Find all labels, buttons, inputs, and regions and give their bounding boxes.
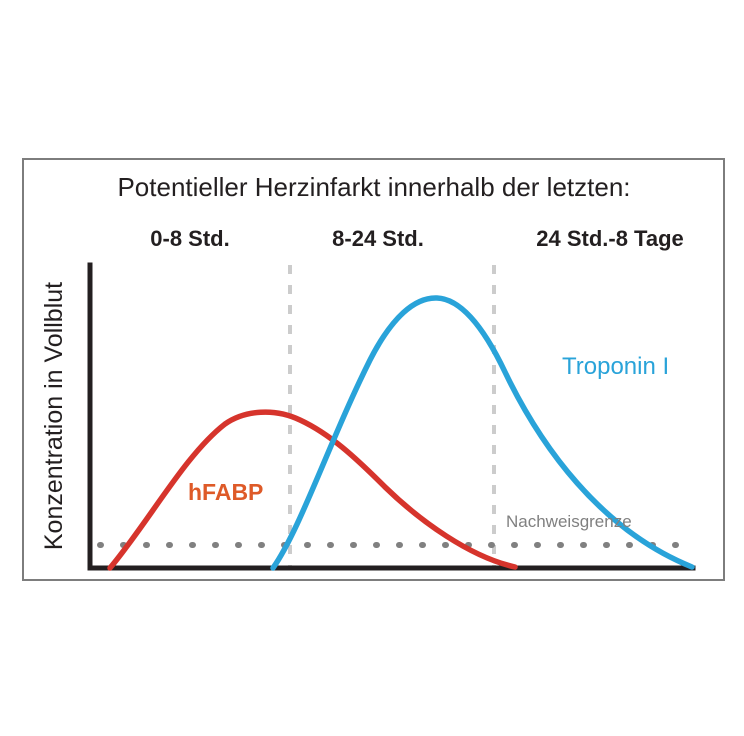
phase-header-0-8: 0-8 Std. bbox=[150, 226, 229, 251]
series-label-troponin: Troponin I bbox=[562, 353, 669, 380]
chart-canvas: Potentieller Herzinfarkt innerhalb der l… bbox=[0, 0, 744, 736]
detection-limit-label: Nachweisgrenze bbox=[506, 512, 632, 531]
phase-header-24-8d: 24 Std.-8 Tage bbox=[536, 226, 684, 251]
y-axis-label: Konzentration in Vollblut bbox=[40, 282, 68, 550]
phase-header-8-24: 8-24 Std. bbox=[332, 226, 424, 251]
chart-title: Potentieller Herzinfarkt innerhalb der l… bbox=[117, 172, 630, 202]
series-label-hfabp: hFABP bbox=[188, 479, 263, 505]
